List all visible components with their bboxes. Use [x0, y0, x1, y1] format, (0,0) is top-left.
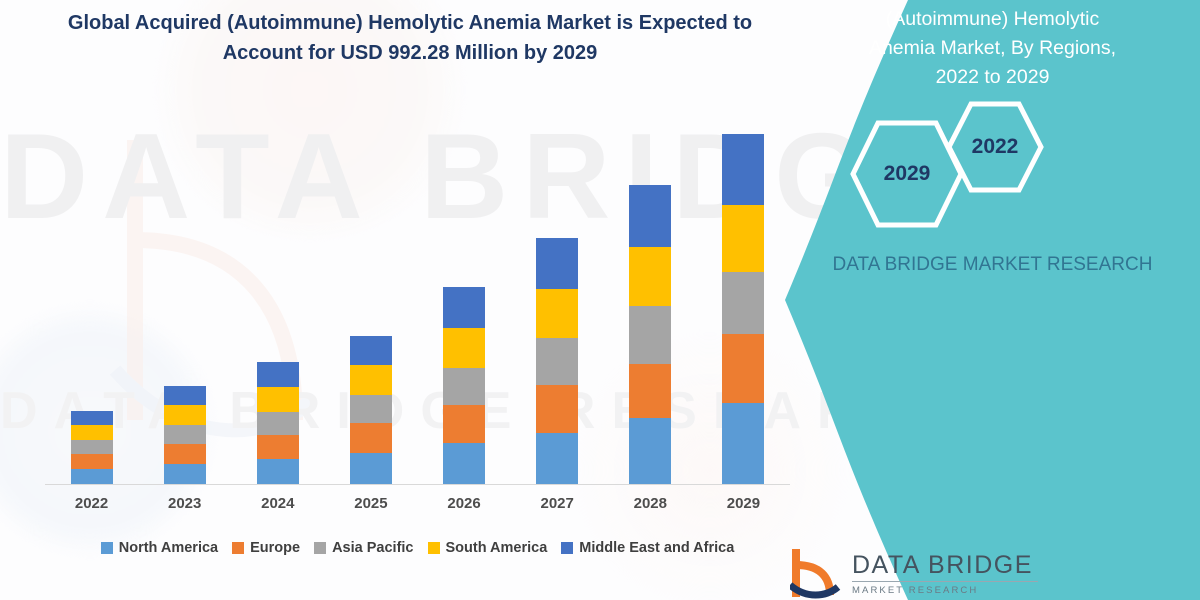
stacked-bar — [164, 386, 206, 484]
bar-segment — [629, 418, 671, 484]
bar-segment — [629, 247, 671, 307]
bar-segment — [257, 387, 299, 412]
logo-mark-icon — [790, 549, 842, 599]
bar-column — [47, 95, 137, 484]
bar-segment — [257, 435, 299, 459]
hexagon-badge-2022: 2022 — [945, 100, 1045, 194]
bar-segment — [722, 134, 764, 205]
bar-segment — [536, 385, 578, 433]
legend-swatch — [428, 542, 440, 554]
bridge-glyph-icon — [790, 549, 842, 599]
logo-subtitle: MARKET RESEARCH — [852, 586, 1038, 596]
bar-segment — [722, 272, 764, 335]
x-axis-label: 2022 — [47, 495, 137, 512]
legend-item[interactable]: South America — [428, 540, 548, 556]
bar-segment — [350, 453, 392, 484]
logo-text: DATA BRIDGE MARKET RESEARCH — [852, 553, 1038, 596]
stacked-bar-chart — [45, 95, 790, 485]
logo-title: DATA BRIDGE — [852, 553, 1038, 578]
x-axis-label: 2029 — [698, 495, 788, 512]
bar-segment — [164, 464, 206, 484]
chart-bars — [45, 95, 790, 484]
bar-segment — [443, 443, 485, 484]
legend-label: Europe — [250, 540, 300, 556]
logo-divider — [852, 581, 1038, 582]
stacked-bar — [629, 185, 671, 484]
right-teal-panel: Global Acquired (Autoimmune) Hemolytic A… — [780, 0, 1200, 600]
x-axis-label: 2024 — [233, 495, 323, 512]
bar-segment — [722, 403, 764, 484]
bar-column — [140, 95, 230, 484]
bar-segment — [71, 469, 113, 484]
legend-item[interactable]: Middle East and Africa — [561, 540, 734, 556]
infographic-canvas: DATA BRIDGE DATA BRIDGE RESEARCH Global … — [0, 0, 1200, 600]
stacked-bar — [722, 134, 764, 484]
legend-label: North America — [119, 540, 218, 556]
x-axis-label: 2026 — [419, 495, 509, 512]
bar-segment — [443, 287, 485, 329]
legend-label: Middle East and Africa — [579, 540, 734, 556]
stacked-bar — [257, 362, 299, 484]
bar-segment — [164, 405, 206, 425]
bar-segment — [722, 205, 764, 272]
legend-item[interactable]: North America — [101, 540, 218, 556]
legend-swatch — [232, 542, 244, 554]
bar-segment — [629, 364, 671, 418]
bar-column — [326, 95, 416, 484]
bar-segment — [536, 238, 578, 289]
x-axis-label: 2025 — [326, 495, 416, 512]
legend-swatch — [101, 542, 113, 554]
bar-column — [698, 95, 788, 484]
legend-swatch — [561, 542, 573, 554]
bar-segment — [443, 405, 485, 443]
x-axis-labels: 20222023202420252026202720282029 — [45, 495, 790, 512]
bar-segment — [536, 289, 578, 339]
bar-segment — [350, 395, 392, 423]
bar-segment — [71, 411, 113, 425]
panel-title-line-4: 2022 to 2029 — [820, 63, 1165, 92]
bar-segment — [71, 425, 113, 440]
bar-segment — [164, 444, 206, 464]
bar-segment — [350, 423, 392, 453]
stacked-bar — [71, 411, 113, 484]
x-axis-label: 2023 — [140, 495, 230, 512]
stacked-bar — [350, 336, 392, 484]
bar-segment — [71, 454, 113, 469]
bar-segment — [350, 336, 392, 365]
legend-swatch — [314, 542, 326, 554]
bar-segment — [443, 328, 485, 368]
bar-segment — [722, 334, 764, 403]
panel-content: Global Acquired (Autoimmune) Hemolytic A… — [780, 0, 1200, 600]
bar-segment — [443, 368, 485, 405]
x-axis-label: 2028 — [605, 495, 695, 512]
bar-segment — [71, 440, 113, 454]
panel-title-line-3: Anemia Market, By Regions, — [820, 34, 1165, 63]
panel-brand-text: DATA BRIDGE MARKET RESEARCH — [820, 250, 1165, 279]
bar-segment — [164, 386, 206, 405]
bar-column — [419, 95, 509, 484]
bar-segment — [164, 425, 206, 444]
bar-column — [605, 95, 695, 484]
chart-legend: North AmericaEuropeAsia PacificSouth Ame… — [45, 540, 790, 556]
bar-segment — [536, 338, 578, 385]
legend-item[interactable]: Asia Pacific — [314, 540, 413, 556]
brand-logo: DATA BRIDGE MARKET RESEARCH — [790, 548, 1190, 600]
panel-title-line-2: (Autoimmune) Hemolytic — [820, 5, 1165, 34]
stacked-bar — [536, 238, 578, 484]
legend-item[interactable]: Europe — [232, 540, 300, 556]
bar-segment — [536, 433, 578, 484]
bar-segment — [257, 362, 299, 387]
x-axis-line — [45, 484, 790, 485]
bar-segment — [629, 306, 671, 364]
page-title: Global Acquired (Autoimmune) Hemolytic A… — [60, 8, 760, 68]
x-axis-label: 2027 — [512, 495, 602, 512]
panel-title: Global Acquired (Autoimmune) Hemolytic A… — [820, 0, 1165, 92]
legend-label: Asia Pacific — [332, 540, 413, 556]
bar-segment — [257, 412, 299, 435]
bar-segment — [257, 459, 299, 484]
hexagon-label-2022: 2022 — [945, 100, 1045, 194]
bar-segment — [629, 185, 671, 247]
legend-label: South America — [446, 540, 548, 556]
bar-column — [512, 95, 602, 484]
hexagon-badges: 2029 2022 — [810, 100, 1170, 230]
bar-column — [233, 95, 323, 484]
bar-segment — [350, 365, 392, 395]
stacked-bar — [443, 287, 485, 484]
